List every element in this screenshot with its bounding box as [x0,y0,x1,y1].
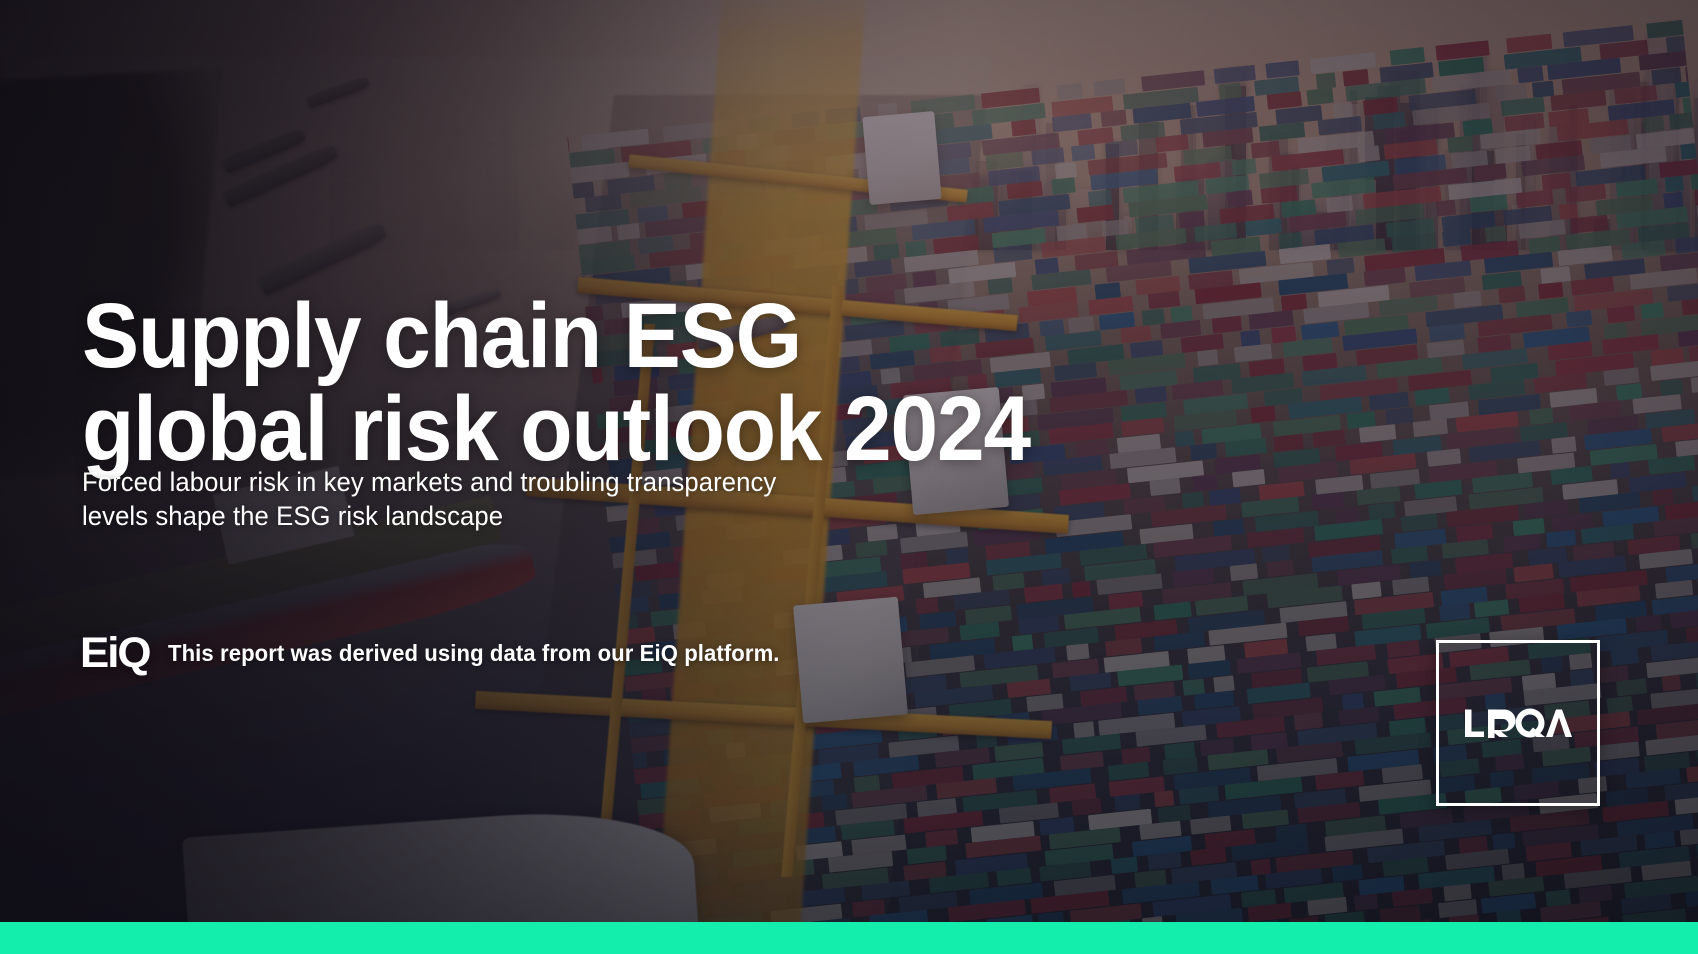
page-subtitle: Forced labour risk in key markets and tr… [82,465,804,533]
cover-content: Supply chain ESG global risk outlook 202… [0,0,1698,954]
bottom-accent-bar [0,922,1698,954]
page-title: Supply chain ESG global risk outlook 202… [82,290,1012,478]
eiq-attribution: EiQ This report was derived using data f… [80,632,805,675]
page-title-line-1: Supply chain ESG [82,290,1012,384]
report-cover-page: Supply chain ESG global risk outlook 202… [0,0,1698,954]
page-title-line-2: global risk outlook 2024 [82,383,1012,477]
page-subtitle-line-1: Forced labour risk in key markets and tr… [82,465,804,499]
eiq-logo: EiQ [80,632,149,675]
lrqa-wordmark-icon [1464,706,1572,740]
eiq-attribution-text: This report was derived using data from … [168,640,780,667]
lrqa-logo-lockup [1436,640,1600,806]
page-subtitle-line-2: levels shape the ESG risk landscape [82,499,804,533]
